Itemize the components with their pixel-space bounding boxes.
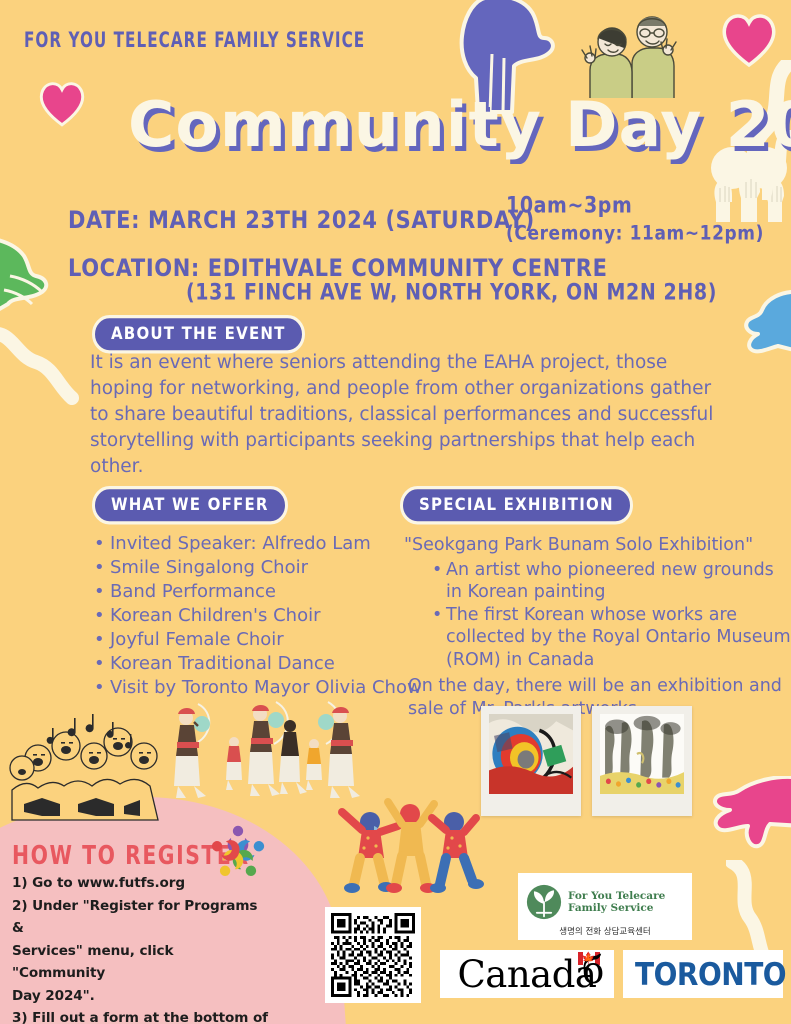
canada-wordmark: Canada 🍁 [457,956,596,993]
person [386,802,436,893]
register-steps: 1) Go to www.futfs.org 2) Under "Registe… [12,872,268,1024]
wave-ribbon-left [0,326,80,406]
list-item: The first Korean whose works are collect… [432,604,791,672]
child-dancer [226,737,242,790]
about-description: It is an event where seniors attending t… [90,350,730,480]
event-ceremony-time: (Ceremony: 11am~12pm) [506,222,764,245]
register-step: 3) Fill out a form at the bottom of [12,1007,268,1024]
dancer [248,705,284,796]
canada-wordmark-text: Canada [457,953,596,996]
offer-list: Invited Speaker: Alfredo Lam Smile Singa… [92,532,422,700]
list-item: Visit by Toronto Mayor Olivia Chow [92,676,422,700]
list-item: Korean Children's Choir [92,604,422,628]
list-item: Joyful Female Choir [92,628,422,652]
toronto-wordmark: TORONTO [635,956,786,993]
event-address: (131 FINCH AVE W, NORTH YORK, ON M2N 2H8… [186,280,717,306]
canada-flag-icon: 🍁 [578,952,600,965]
futfs-logo-text: For You Telecare Family Service [568,890,665,915]
korean-traditional-dancers-illustration [168,700,368,805]
child-dancer [306,739,322,790]
event-date: DATE: MARCH 23TH 2024 (SATURDAY) [68,206,535,234]
exhibition-block: "Seokgang Park Bunam Solo Exhibition" An… [404,534,791,720]
futfs-korean-name: 생명의 전화 상담교육센터 [518,925,692,940]
choir-illustration [8,712,168,822]
person [430,812,484,893]
hand-icon-blue [744,290,791,370]
futfs-logo-line2: Family Service [568,902,665,915]
section-pill-offer: WHAT WE OFFER [92,486,288,525]
page-title: Community Day 2024 [128,88,791,161]
register-step: 2) Under "Register for Programs & [12,895,268,940]
qr-code-icon[interactable] [325,907,421,1003]
poster-canvas: FOR YOU TELECARE FAMILY SERVICE Communit… [0,0,791,1024]
people-circle-logo-icon [207,822,269,884]
register-step: Services" menu, click "Community [12,940,268,985]
exhibition-title: "Seokgang Park Bunam Solo Exhibition" [404,534,791,557]
event-time: 10am~3pm [506,193,632,219]
register-step: Day 2024". [12,985,268,1008]
dancer [318,707,360,798]
list-item: An artist who pioneered new grounds in K… [432,559,791,604]
heart-icon-top-right [718,10,780,68]
hand-icon-green [0,236,68,332]
organization-name: FOR YOU TELECARE FAMILY SERVICE [24,28,365,53]
hand-icon-pink [706,776,791,872]
artwork-thumbnail-1 [481,706,581,816]
abstract-painting-image [489,714,573,794]
dancer [174,708,210,798]
futfs-logo-line1: For You Telecare [568,890,665,903]
section-pill-exhibition: SPECIAL EXHIBITION [400,486,633,525]
list-item: Band Performance [92,580,422,604]
jumping-people-illustration [326,796,486,896]
toronto-logo: TORONTO [623,950,783,998]
canada-logo: Canada 🍁 [440,950,614,998]
list-item: Smile Singalong Choir [92,556,422,580]
event-location: LOCATION: EDITHVALE COMMUNITY CENTRE [68,254,608,282]
person [342,812,398,893]
exhibition-bullets: An artist who pioneered new grounds in K… [432,559,791,672]
heart-icon-upper-left [36,78,88,128]
futfs-logo: For You Telecare Family Service [518,873,692,931]
futfs-tree-mark-icon [526,884,562,920]
elderly-couple-illustration [572,6,680,98]
dancer [279,720,307,794]
list-item: Invited Speaker: Alfredo Lam [92,532,422,556]
section-pill-about: ABOUT THE EVENT [92,315,305,354]
artwork-thumbnail-2 [592,706,692,816]
list-item: Korean Traditional Dance [92,652,422,676]
landscape-painting-image [600,714,684,794]
qr-code-image [331,913,415,997]
